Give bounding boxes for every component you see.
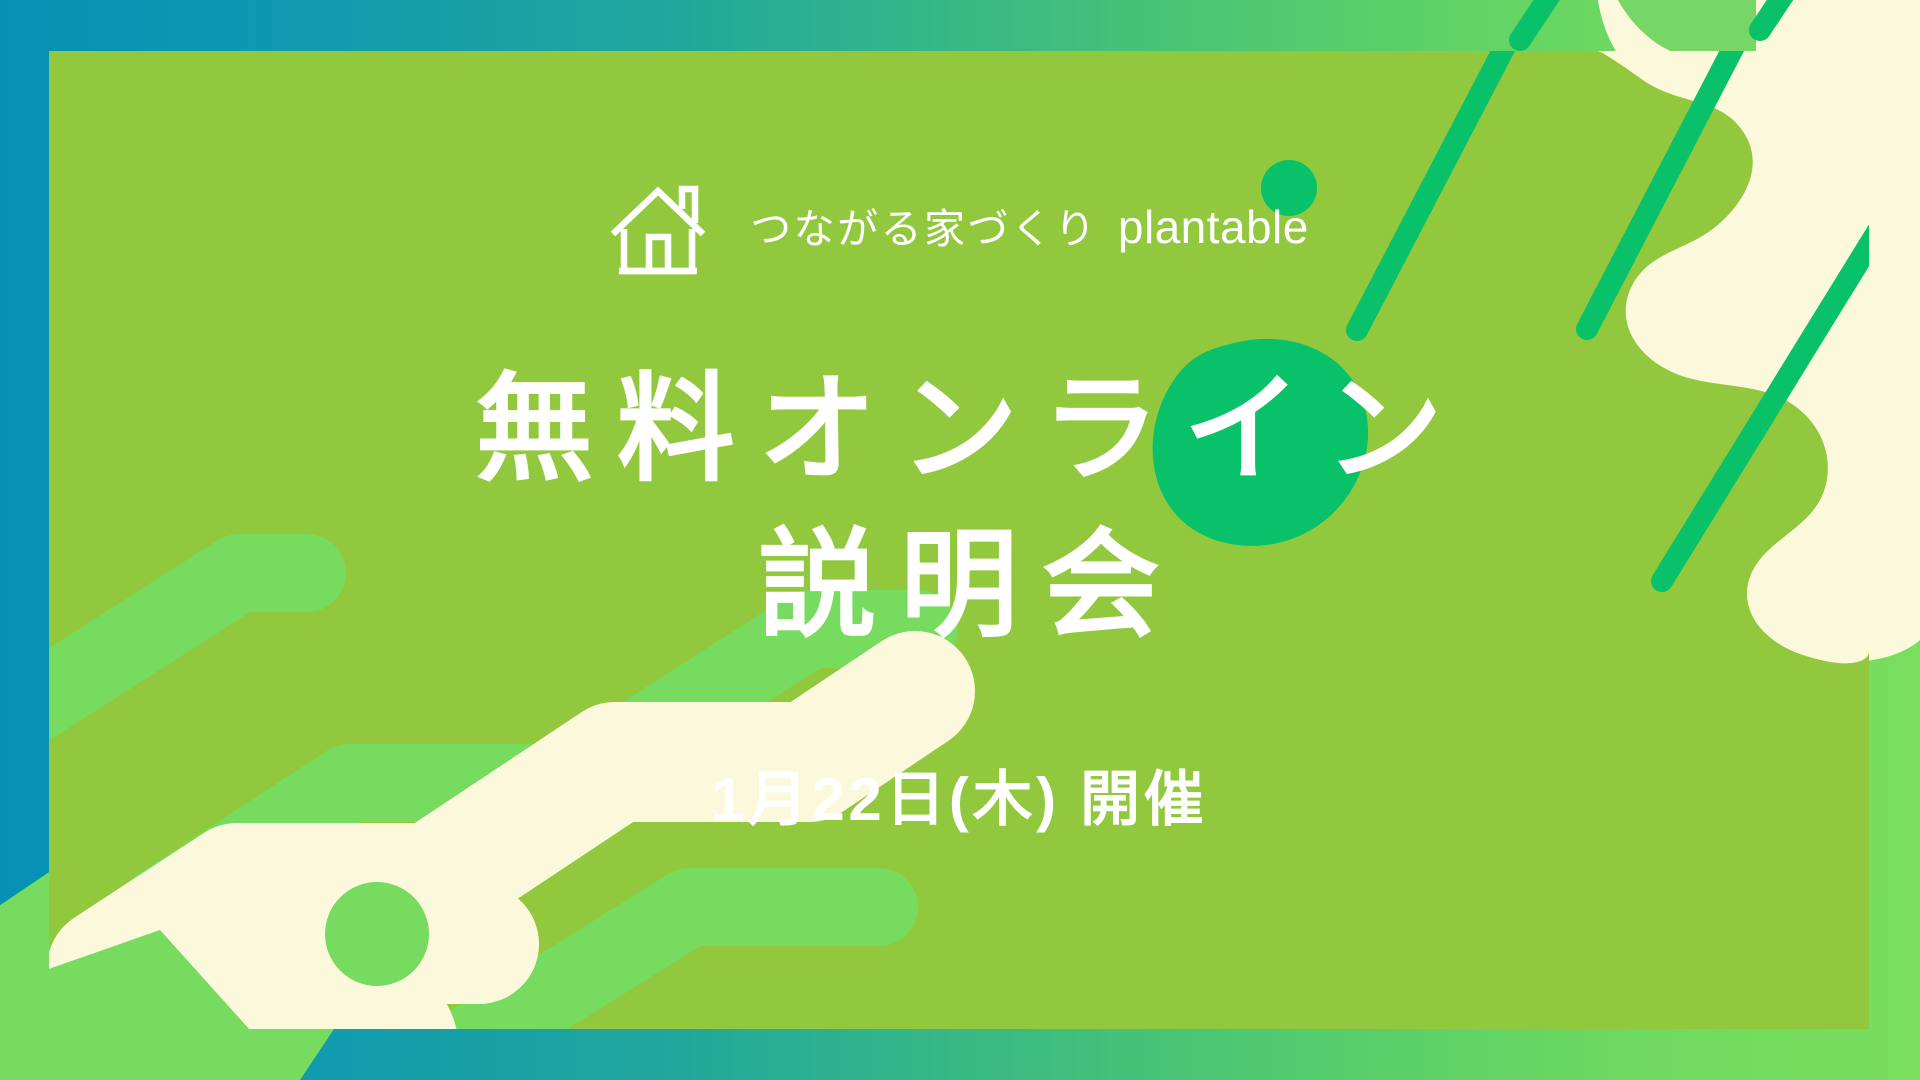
poster-canvas: つながる家づくり plantable 無料オンライン 説明会 1月22日(木) … — [0, 0, 1920, 1080]
brand-logo: つながる家づくり plantable — [609, 179, 1309, 275]
poster-content: つながる家づくり plantable 無料オンライン 説明会 1月22日(木) … — [49, 51, 1869, 1029]
event-date: 1月22日(木) 開催 — [711, 751, 1207, 838]
headline-line-2: 説明会 — [452, 509, 1467, 665]
logo-tagline: つながる家づくり — [750, 209, 1098, 250]
logo-text: つながる家づくり plantable — [750, 204, 1309, 250]
headline-line-1: 無料オンライン — [452, 353, 1467, 509]
page-title: 無料オンライン 説明会 — [452, 353, 1467, 665]
house-icon — [609, 179, 724, 275]
logo-brand: plantable — [1118, 204, 1309, 250]
